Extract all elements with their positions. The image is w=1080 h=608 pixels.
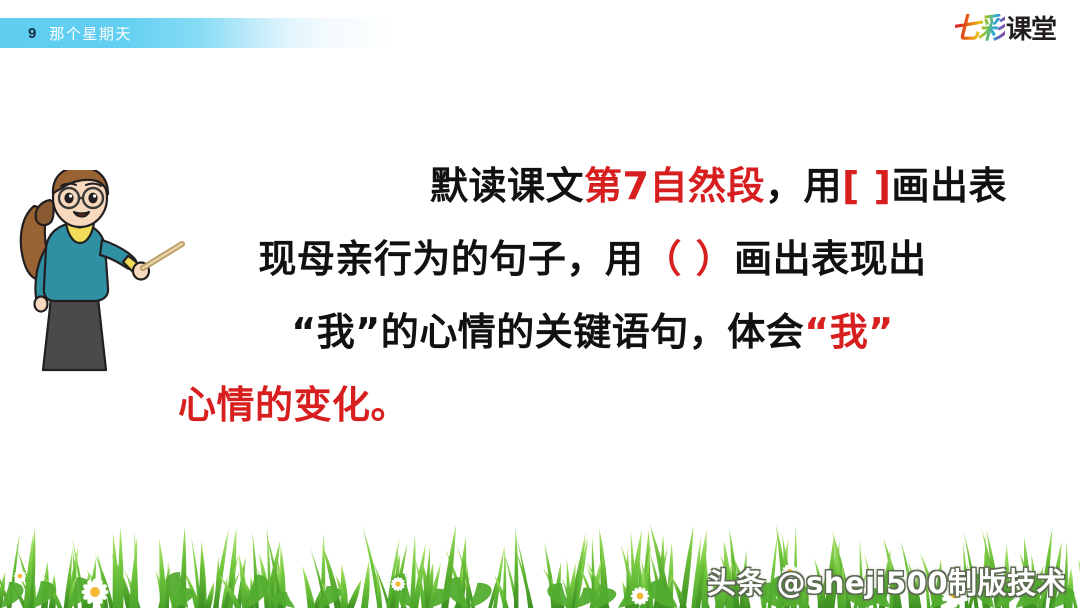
instruction-segment-2-1: 现母亲行为的句子，用 xyxy=(258,237,643,281)
instruction-text-block: 默读课文第7自然段，用[ ]画出表 现母亲行为的句子，用（ ）画出表现出 “我”… xyxy=(170,150,1015,442)
slide-canvas: 9 那个星期天 七彩 课堂 xyxy=(0,0,1080,608)
teacher-illustration xyxy=(10,170,190,435)
brand-logo: 七彩 课堂 xyxy=(951,14,1056,43)
instruction-segment-2-2: （ ） xyxy=(643,237,734,281)
breadcrumb: 9 那个星期天 xyxy=(0,18,132,48)
page-title: 那个星期天 xyxy=(49,23,132,44)
lesson-number: 9 xyxy=(28,25,36,42)
instruction-segment-1-4: [ ] xyxy=(842,164,891,208)
instruction-segment-1-1: 默读课文 xyxy=(430,164,584,208)
instruction-line-4: 心情的变化。 xyxy=(170,369,1015,442)
instruction-line-3: “我”的心情的关键语句，体会“我” xyxy=(170,296,1015,369)
instruction-segment-3-1: “我”的心情的关键语句，体会 xyxy=(291,310,804,354)
instruction-line-1: 默读课文第7自然段，用[ ]画出表 xyxy=(170,150,1015,223)
instruction-segment-3-2: “我” xyxy=(804,310,893,354)
brand-logo-primary: 七彩 xyxy=(951,14,1005,43)
teacher-figure-icon xyxy=(10,170,190,435)
brand-logo-secondary: 课堂 xyxy=(1006,17,1056,43)
watermark-text: 头条 @sheji500制版技术 xyxy=(707,560,1066,602)
instruction-segment-1-3: ，用 xyxy=(765,164,842,208)
instruction-segment-2-3: 画出表现出 xyxy=(734,237,927,281)
instruction-segment-1-2: 第7自然段 xyxy=(584,164,765,208)
instruction-segment-1-5: 画出表 xyxy=(891,164,1007,208)
instruction-line-2: 现母亲行为的句子，用（ ）画出表现出 xyxy=(170,223,1015,296)
instruction-segment-4-1: 心情的变化。 xyxy=(178,383,409,427)
